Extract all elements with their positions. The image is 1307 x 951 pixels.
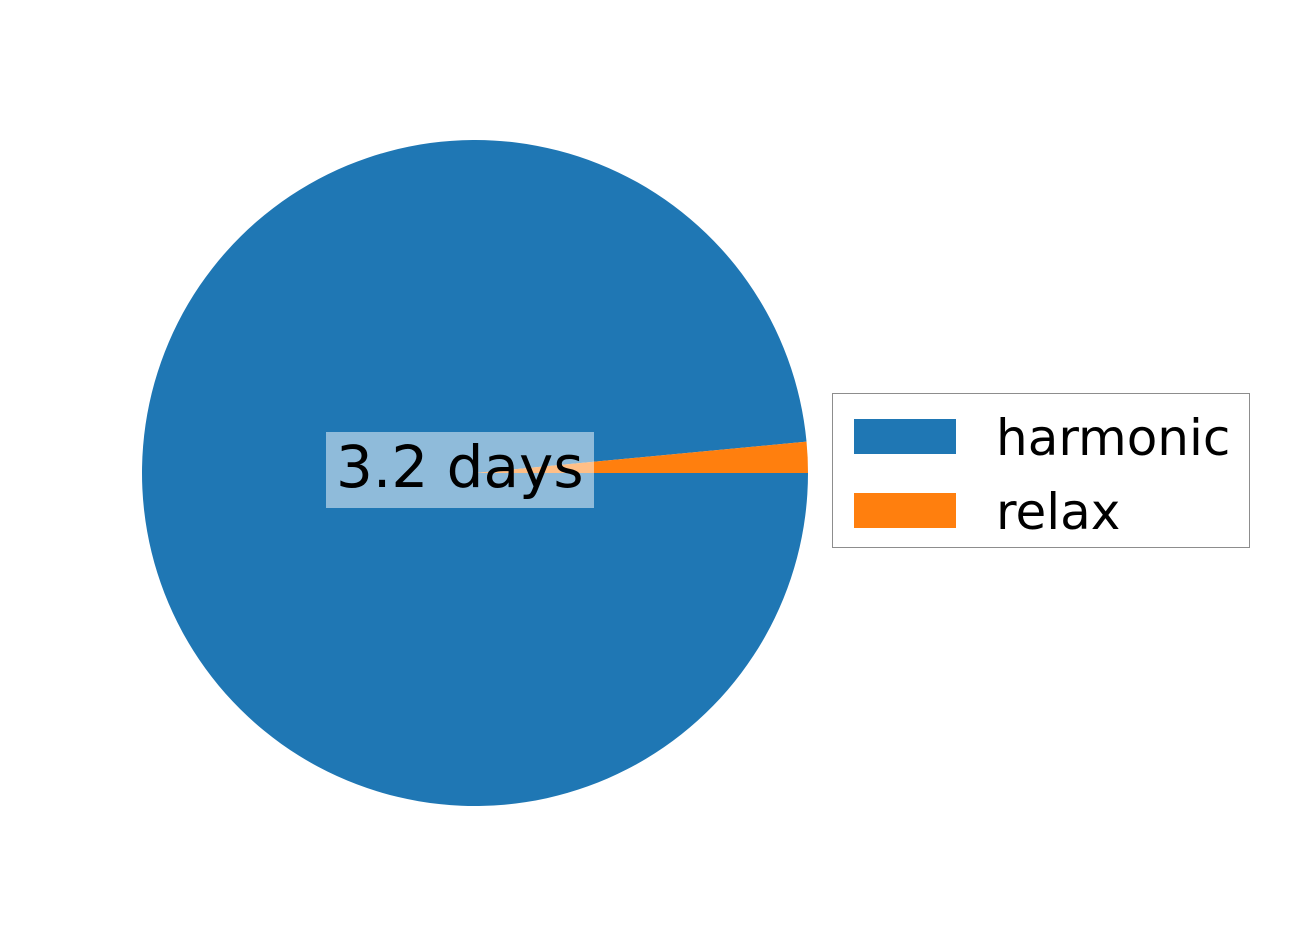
pie-slice-label-harmonic: 3.2 days (326, 432, 594, 508)
legend-entry-relax[interactable]: relax (833, 481, 1249, 539)
legend: harmonic relax (832, 393, 1250, 548)
legend-label-harmonic: harmonic (996, 413, 1230, 463)
legend-entry-harmonic[interactable]: harmonic (833, 407, 1249, 465)
legend-swatch-relax-icon (854, 493, 956, 528)
legend-swatch-harmonic-icon (854, 419, 956, 454)
pie-chart-figure: 3.2 days harmonic relax (0, 0, 1307, 951)
legend-label-relax: relax (996, 487, 1120, 537)
